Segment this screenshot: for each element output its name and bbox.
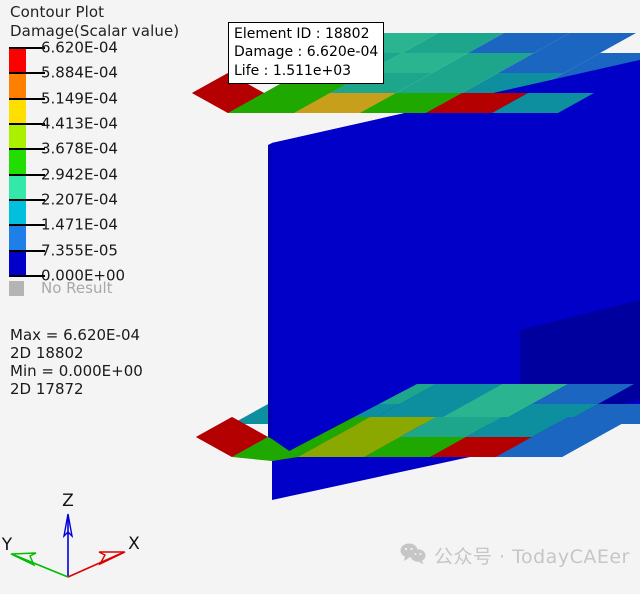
element-pick-tooltip[interactable]: Element ID : 18802 Damage : 6.620e-04 Li… (228, 22, 384, 84)
color-scale[interactable]: 6.620E-045.884E-045.149E-044.413E-043.67… (0, 48, 230, 288)
color-band-5[interactable] (9, 175, 26, 200)
y-axis-label: Y (1, 535, 13, 555)
color-band-2[interactable] (9, 99, 26, 124)
color-scale-value: 3.678E-04 (41, 142, 118, 157)
max-value-line: Max = 6.620E-04 (10, 328, 143, 343)
z-axis-label: Z (62, 491, 74, 511)
color-band-0[interactable] (9, 48, 26, 73)
axis-triad[interactable]: Z Y X (0, 480, 180, 590)
tooltip-damage: Damage : 6.620e-04 (234, 43, 378, 61)
color-band-3[interactable] (9, 124, 26, 149)
color-scale-value: 1.471E-04 (41, 218, 118, 233)
color-scale-value: 5.884E-04 (41, 66, 118, 81)
contour-plot-window: Contour Plot Damage(Scalar value) 6.620E… (0, 0, 640, 590)
color-scale-value: 6.620E-04 (41, 41, 118, 56)
x-axis-label: X (128, 534, 140, 554)
no-result-row[interactable]: No Result (9, 281, 113, 296)
tooltip-life: Life : 1.511e+03 (234, 62, 378, 80)
color-scale-value: 2.207E-04 (41, 193, 118, 208)
color-scale-value: 2.942E-04 (41, 167, 118, 182)
color-band-7[interactable] (9, 225, 26, 250)
color-scale-value: 5.149E-04 (41, 91, 118, 106)
legend-title-result: Damage(Scalar value) (10, 24, 230, 39)
color-scale-tick (9, 250, 45, 252)
color-scale-tick (9, 174, 45, 176)
watermark-text: 公众号 · TodayCAEer (434, 542, 630, 569)
max-entity-line: 2D 18802 (10, 346, 143, 361)
legend-title-contour: Contour Plot (10, 5, 230, 20)
color-band-1[interactable] (9, 73, 26, 98)
watermark: 公众号 · TodayCAEer (400, 542, 630, 569)
color-scale-tick (9, 224, 45, 226)
x-axis-arrow (99, 552, 125, 564)
color-band-8[interactable] (9, 251, 26, 276)
min-max-info: Max = 6.620E-04 2D 18802 Min = 0.000E+00… (10, 328, 143, 400)
no-result-swatch (9, 281, 24, 296)
color-band-6[interactable] (9, 200, 26, 225)
web-left-edge (268, 143, 272, 460)
no-result-label: No Result (41, 281, 113, 296)
legend-panel: Contour Plot Damage(Scalar value) 6.620E… (0, 0, 230, 288)
tooltip-element-id: Element ID : 18802 (234, 25, 378, 43)
color-band-4[interactable] (9, 149, 26, 174)
color-bar[interactable] (9, 48, 26, 276)
min-entity-line: 2D 17872 (10, 382, 143, 397)
color-scale-value: 7.355E-05 (41, 243, 118, 258)
color-scale-tick (9, 275, 45, 277)
color-scale-tick (9, 47, 45, 49)
color-scale-tick (9, 123, 45, 125)
wechat-icon (400, 542, 426, 569)
color-scale-tick (9, 148, 45, 150)
min-value-line: Min = 0.000E+00 (10, 364, 143, 379)
color-scale-value: 4.413E-04 (41, 117, 118, 132)
color-scale-tick (9, 199, 45, 201)
color-scale-tick (9, 72, 45, 74)
color-scale-tick (9, 98, 45, 100)
y-axis-line (14, 555, 68, 577)
